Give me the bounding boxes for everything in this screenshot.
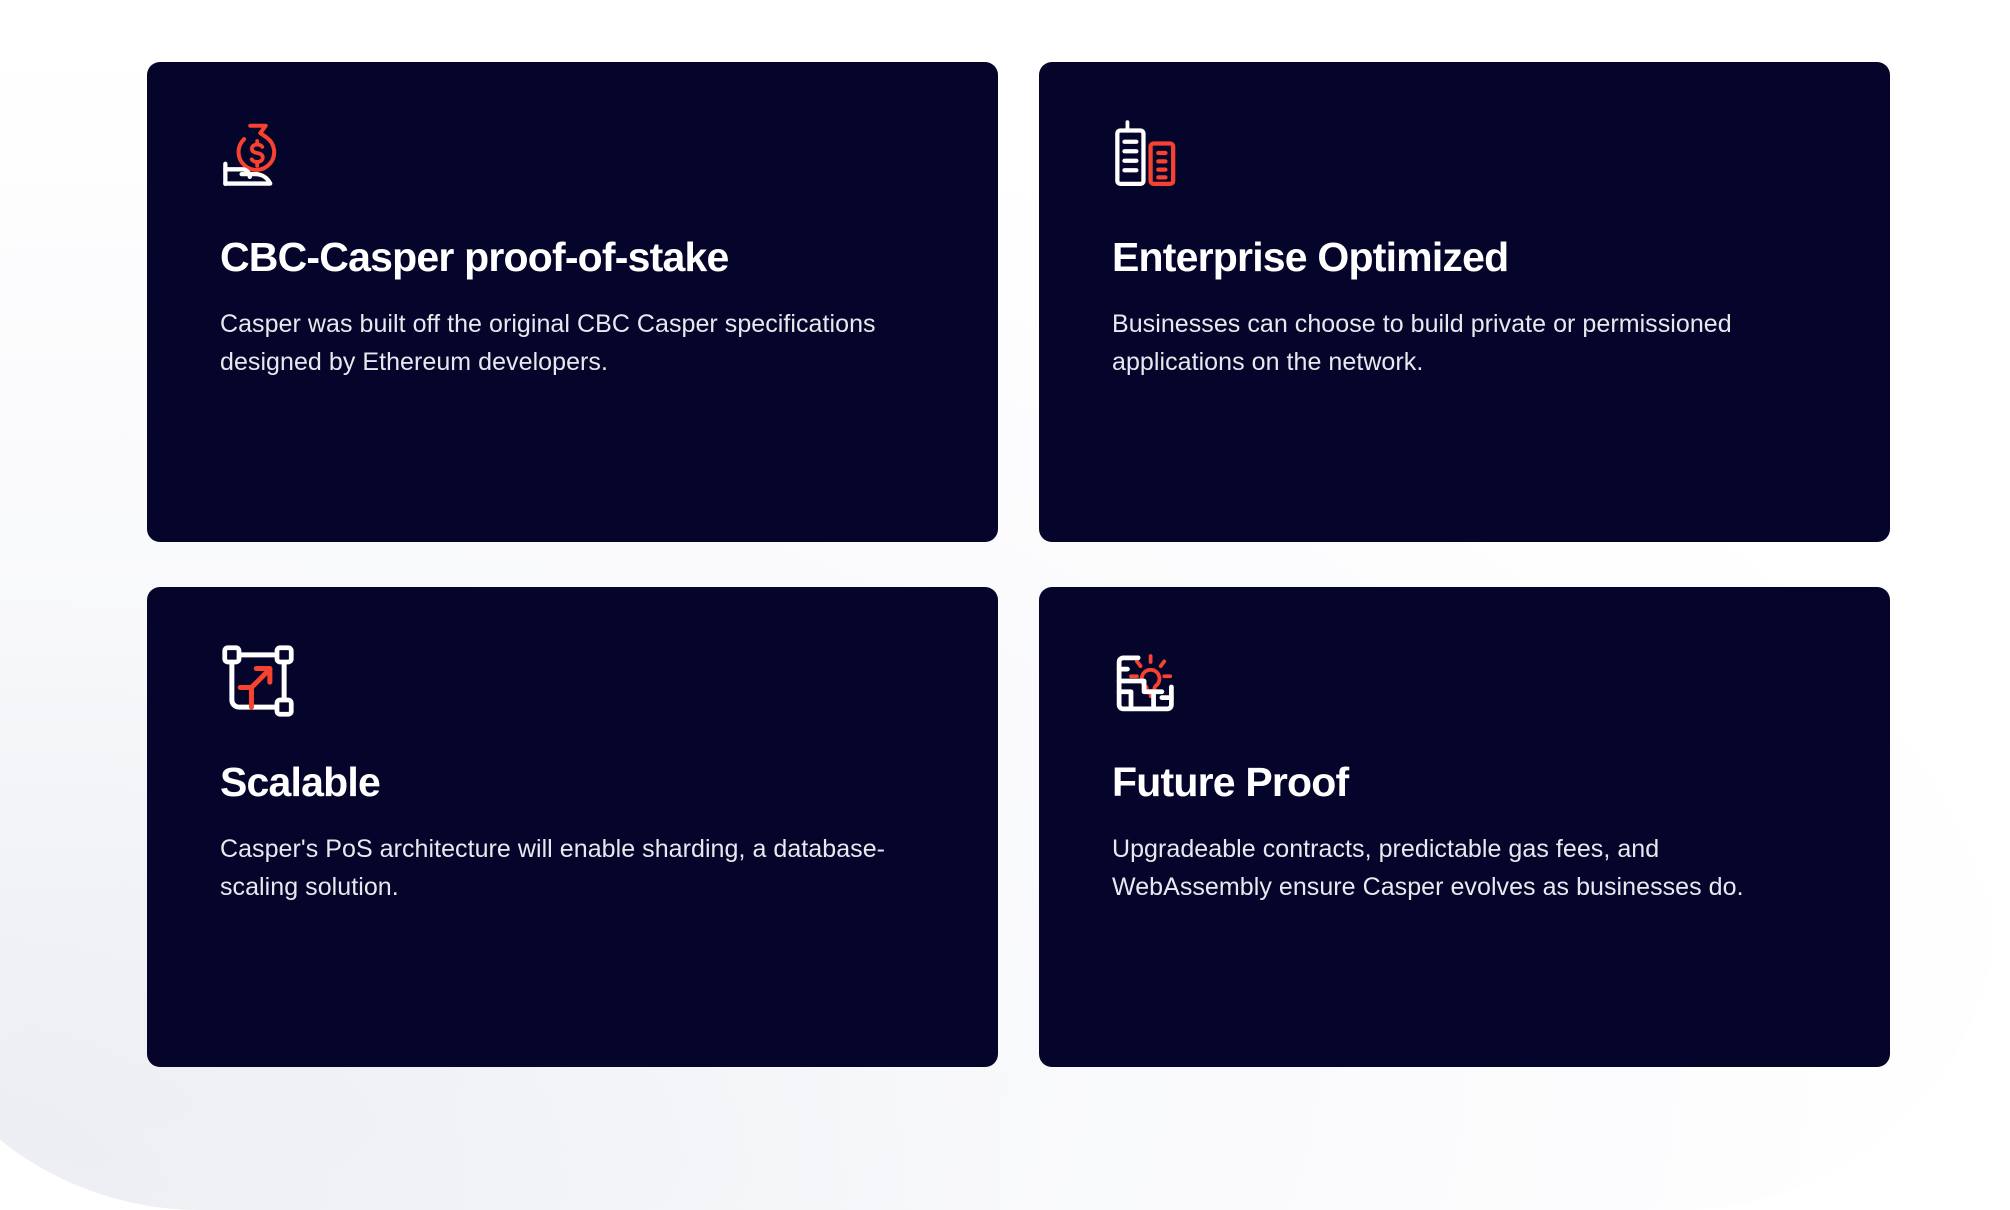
feature-card-scalable[interactable]: Scalable Casper's PoS architecture will … xyxy=(147,587,998,1067)
feature-card-cbc-casper-proof-of-stake[interactable]: CBC-Casper proof-of-stake Casper was bui… xyxy=(147,62,998,542)
blueprint-lightbulb-icon xyxy=(1112,643,1188,719)
card-description: Casper's PoS architecture will enable sh… xyxy=(220,830,900,906)
feature-card-future-proof[interactable]: Future Proof Upgradeable contracts, pred… xyxy=(1039,587,1890,1067)
feature-cards-grid: CBC-Casper proof-of-stake Casper was bui… xyxy=(147,62,1870,1067)
scale-resize-arrow-icon xyxy=(220,643,296,719)
card-title: Scalable xyxy=(220,761,998,804)
card-title: CBC-Casper proof-of-stake xyxy=(220,236,998,279)
card-title: Enterprise Optimized xyxy=(1112,236,1890,279)
money-bag-icon xyxy=(220,118,296,194)
feature-card-enterprise-optimized[interactable]: Enterprise Optimized Businesses can choo… xyxy=(1039,62,1890,542)
card-title: Future Proof xyxy=(1112,761,1890,804)
card-description: Businesses can choose to build private o… xyxy=(1112,305,1792,381)
card-description: Casper was built off the original CBC Ca… xyxy=(220,305,900,381)
office-buildings-icon xyxy=(1112,118,1188,194)
card-description: Upgradeable contracts, predictable gas f… xyxy=(1112,830,1792,906)
